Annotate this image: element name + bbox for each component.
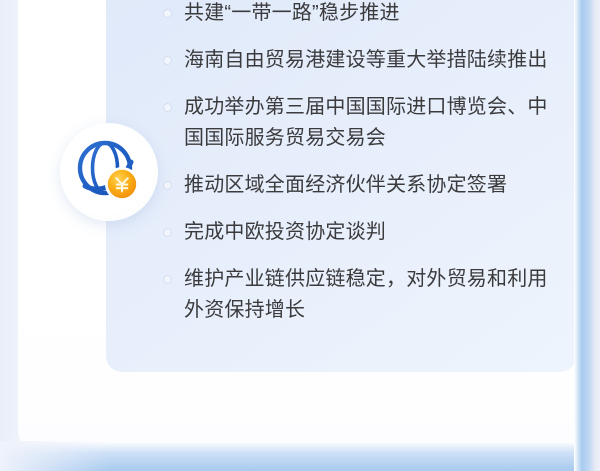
globe-yuan-icon [73,136,145,208]
list-item: 推动区域全面经济伙伴关系协定签署 [164,170,560,201]
outer-white-panel: 共建“一带一路”稳步推进 海南自由贸易港建设等重大举措陆续推出 成功举办第三届中… [18,0,584,452]
list-item-text: 海南自由贸易港建设等重大举措陆续推出 [184,45,560,76]
screenshot-root: 共建“一带一路”稳步推进 海南自由贸易港建设等重大举措陆续推出 成功举办第三届中… [0,0,600,471]
bullet-dot-icon [164,182,171,189]
list-item: 共建“一带一路”稳步推进 [164,0,560,29]
list-item-text: 维护产业链供应链稳定，对外贸易和利用外资保持增长 [184,264,560,326]
highlights-card: 共建“一带一路”稳步推进 海南自由贸易港建设等重大举措陆续推出 成功举办第三届中… [106,0,576,372]
list-item-text: 成功举办第三届中国国际进口博览会、中国国际服务贸易交易会 [184,92,560,154]
list-item-text: 推动区域全面经济伙伴关系协定签署 [184,170,560,201]
right-edge-gradient [574,0,600,471]
bottom-left-fade [0,441,110,471]
list-item: 海南自由贸易港建设等重大举措陆续推出 [164,45,560,76]
bullet-dot-icon [164,229,171,236]
list-item-text: 完成中欧投资协定谈判 [184,217,560,248]
bullet-dot-icon [164,104,171,111]
bullet-dot-icon [164,276,171,283]
list-item: 完成中欧投资协定谈判 [164,217,560,248]
bullet-dot-icon [164,10,171,17]
achievement-list: 共建“一带一路”稳步推进 海南自由贸易港建设等重大举措陆续推出 成功举办第三届中… [164,0,560,326]
bullet-dot-icon [164,57,171,64]
list-item-text: 共建“一带一路”稳步推进 [184,0,560,29]
list-item: 维护产业链供应链稳定，对外贸易和利用外资保持增长 [164,264,560,326]
globe-yuan-badge [60,123,158,221]
left-edge-gradient [0,0,20,471]
list-item: 成功举办第三届中国国际进口博览会、中国国际服务贸易交易会 [164,92,560,154]
